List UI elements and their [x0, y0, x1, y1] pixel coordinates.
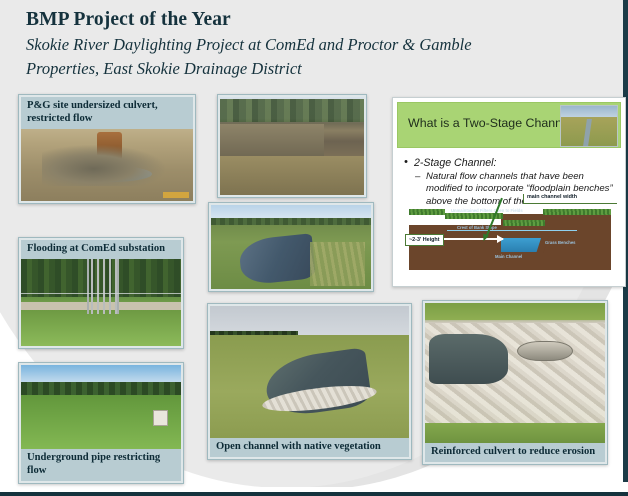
photo-card-pond[interactable] — [217, 94, 367, 198]
planting-rows-detail — [310, 242, 364, 286]
photo-card-open-channel[interactable]: Open channel with native vegetation — [207, 303, 412, 460]
diagram-left-floodplain-bench — [445, 225, 501, 270]
utility-pole-right — [117, 251, 119, 315]
diagram-label-unmaintained-filters: Unmaintained Filters Open to Fields — [451, 208, 523, 213]
photo-card-pg-culvert[interactable]: P&G site undersized culvert, restricted … — [18, 94, 196, 204]
photo-frame: Underground pipe restricting flow — [18, 362, 184, 484]
page-subtitle-line-1: Skokie River Daylighting Project at ComE… — [26, 33, 546, 56]
diagram-grass-bench-mid — [503, 220, 545, 226]
photo-card-reinforced-culvert[interactable]: Reinforced culvert to reduce erosion — [422, 300, 608, 465]
diagram-bankfull-water-line — [447, 230, 577, 231]
photo-reinforced-culvert — [425, 303, 605, 443]
standing-water-detail — [66, 166, 152, 183]
photo-frame — [208, 202, 374, 292]
culvert-pipe-detail — [97, 132, 123, 159]
stream-water-detail — [238, 233, 316, 286]
diagram-label-grass-benches: Grass Benches — [545, 240, 576, 245]
slide-canvas: BMP Project of the Year Skokie River Day… — [0, 0, 628, 496]
title-block: BMP Project of the Year Skokie River Day… — [26, 8, 546, 80]
sky-detail — [21, 365, 181, 383]
treeline-detail — [220, 99, 364, 123]
upper-grass-detail — [425, 303, 605, 320]
photo-caption-open-channel: Open channel with native vegetation — [210, 438, 409, 457]
lower-grass-detail — [425, 423, 605, 443]
treeline-detail — [21, 382, 181, 395]
two-stage-channel-aerial-inset-icon — [560, 105, 618, 147]
photo-frame: Open channel with native vegetation — [207, 303, 412, 460]
two-stage-channel-panel[interactable]: What is a Two-Stage Channel? 2-Stage Cha… — [392, 97, 626, 287]
panel-bullet-primary: 2-Stage Channel: — [402, 157, 618, 169]
photo-date-stamp — [163, 192, 189, 198]
photo-frame: Flooding at ComEd substation — [18, 237, 184, 349]
photo-open-field-underground-pipe — [21, 365, 181, 449]
field-sign-detail — [153, 410, 168, 425]
panel-header-bar: What is a Two-Stage Channel? — [397, 102, 621, 148]
diagram-grass-left-top — [409, 209, 445, 215]
treeline-detail — [211, 218, 371, 226]
photo-frame — [217, 94, 367, 198]
substation-tower — [91, 253, 120, 314]
photo-restored-stream-channel — [211, 205, 371, 289]
photo-card-underground-pipe[interactable]: Underground pipe restricting flow — [18, 362, 184, 484]
two-stage-channel-cross-section-diagram: Unmaintained Filters Open to Fields Cres… — [403, 194, 617, 270]
diagram-left-upper-notch — [409, 214, 445, 225]
photo-caption-comed-substation: Flooding at ComEd substation — [21, 240, 181, 259]
pond-bank-detail — [220, 156, 364, 195]
photo-pg-undersized-culvert: P&G site undersized culvert, restricted … — [21, 97, 193, 201]
diagram-height-arrow — [439, 238, 503, 240]
diagram-callout-bench-width: Bench width ranges; but usually 3x main … — [523, 194, 617, 204]
slide-bottom-rule — [0, 492, 628, 496]
photo-detention-pond — [220, 97, 364, 195]
lawn-detail — [21, 310, 181, 346]
culvert-pool-detail — [429, 334, 508, 384]
panel-title: What is a Two-Stage Channel? — [408, 116, 579, 130]
page-subtitle-line-2: Properties, East Skokie Drainage Distric… — [26, 57, 546, 80]
photo-caption-pg-culvert: P&G site undersized culvert, restricted … — [21, 97, 193, 129]
pond-water-detail — [220, 124, 324, 157]
photo-card-restored-channel[interactable] — [208, 202, 374, 292]
photo-card-comed-substation[interactable]: Flooding at ComEd substation — [18, 237, 184, 349]
inset-sky — [561, 106, 617, 118]
diagram-callout-height: ~2-3' Height — [405, 234, 444, 246]
photo-frame: Reinforced culvert to reduce erosion — [422, 300, 608, 465]
photo-caption-underground-pipe: Underground pipe restricting flow — [21, 449, 181, 481]
page-title: BMP Project of the Year — [26, 8, 546, 32]
photo-caption-reinforced-culvert: Reinforced culvert to reduce erosion — [425, 443, 605, 462]
photo-frame: P&G site undersized culvert, restricted … — [18, 94, 196, 204]
diagram-grass-right-top — [543, 209, 611, 215]
photo-open-channel-native-vegetation — [210, 306, 409, 438]
perimeter-fence-detail — [21, 293, 181, 294]
diagram-main-channel-water — [501, 238, 541, 252]
photo-comed-substation-flooding: Flooding at ComEd substation — [21, 240, 181, 346]
diagram-label-main-channel: Main Channel — [495, 254, 522, 259]
culvert-pipe-outlet — [517, 341, 573, 361]
